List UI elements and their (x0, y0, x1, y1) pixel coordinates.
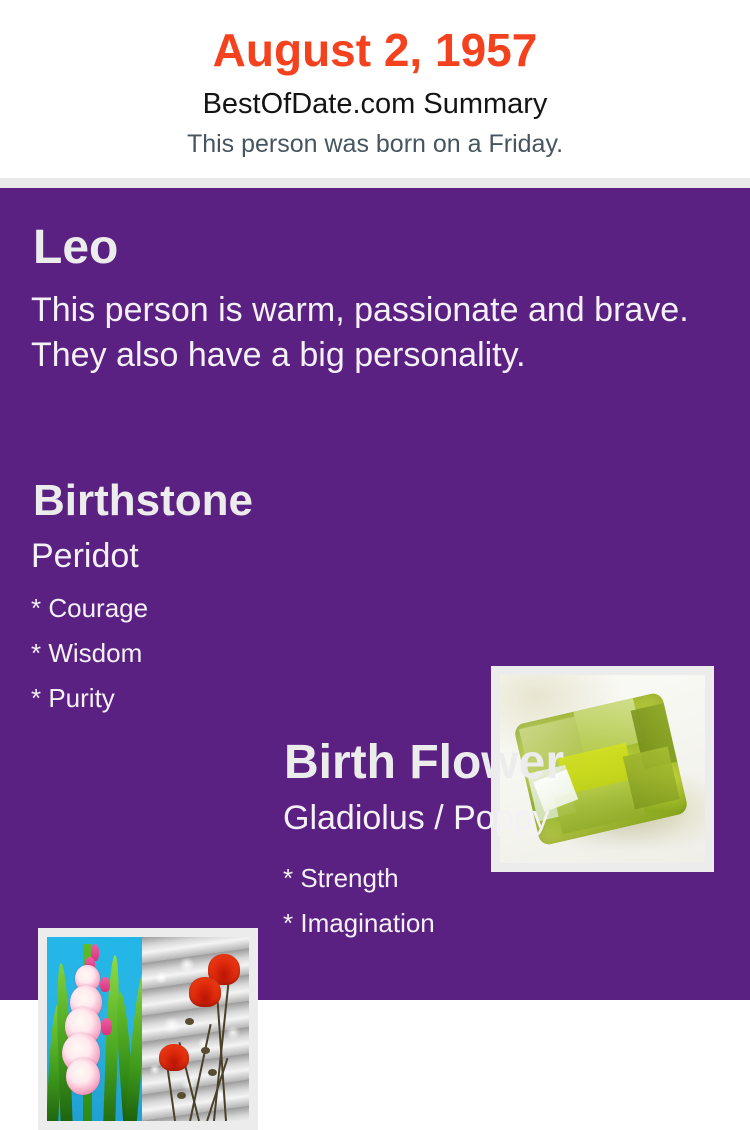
born-day-note: This person was born on a Friday. (0, 128, 750, 160)
header-divider (0, 178, 750, 188)
page-title-date: August 2, 1957 (0, 22, 750, 78)
summary-panel: Leo This person is warm, passionate and … (0, 188, 750, 1000)
birthstone-name: Peridot (31, 536, 139, 576)
birth-flower-trait-list: * Strength * Imagination (283, 856, 703, 946)
birth-flower-heading: Birth Flower (284, 736, 564, 790)
header: August 2, 1957 BestOfDate.com Summary Th… (0, 0, 750, 178)
bestofdate-summary-card: August 2, 1957 BestOfDate.com Summary Th… (0, 0, 750, 1000)
list-item: * Wisdom (31, 631, 431, 676)
site-summary-label: BestOfDate.com Summary (0, 86, 750, 122)
list-item: * Strength (283, 856, 703, 901)
birth-flower-name: Gladiolus / Poppy (283, 798, 550, 838)
list-item: * Purity (31, 676, 431, 721)
zodiac-sign-title: Leo (33, 221, 118, 275)
zodiac-description: This person is warm, passionate and brav… (31, 288, 691, 378)
list-item: * Courage (31, 586, 431, 631)
birth-flower-photo-inner (47, 937, 249, 1121)
birth-flower-photo (38, 928, 258, 1130)
list-item: * Imagination (283, 901, 703, 946)
birthstone-heading: Birthstone (33, 476, 253, 526)
birthstone-trait-list: * Courage * Wisdom * Purity (31, 586, 431, 721)
